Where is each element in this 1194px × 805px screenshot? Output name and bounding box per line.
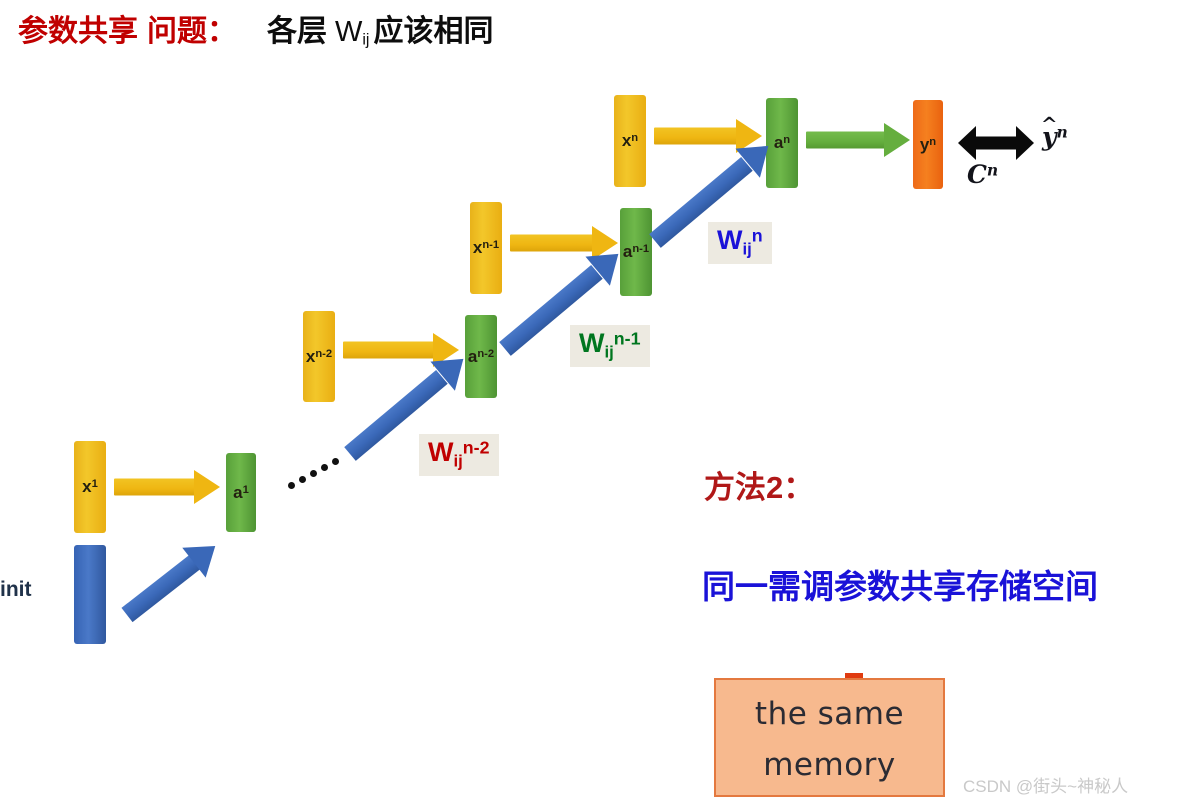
arrow-init-to-a1 <box>115 531 227 630</box>
page-title: 参数共享问题：各层Wij应该相同 <box>18 6 493 50</box>
title-black-suffix: 应该相同 <box>373 15 493 48</box>
bar-an2-label: an-2 <box>468 347 494 367</box>
memory-box-line-1: the same <box>716 696 943 732</box>
bar-xn2-label: xn-2 <box>306 347 332 367</box>
init-label: init <box>0 578 32 602</box>
bar-an1-label: an-1 <box>623 242 649 262</box>
weight-label-n-1: Wijn-1 <box>570 325 650 367</box>
memory-box: the same memory <box>714 678 945 797</box>
cost-label: Cn <box>967 160 998 189</box>
bar-an2: an-2 <box>465 315 497 398</box>
yhat-label: ^yn <box>1042 122 1068 151</box>
arrow-an-to-yn <box>806 123 910 157</box>
bar-a1-label: a1 <box>233 483 249 503</box>
title-red-question: 问题： <box>147 15 237 48</box>
ellipsis-dots-lower <box>288 455 358 491</box>
double-arrow-compare <box>958 125 1034 161</box>
hat-accent-icon: ^ <box>1041 112 1058 136</box>
bar-an-label: an <box>774 133 790 153</box>
title-black-prefix: 各层 <box>267 15 327 48</box>
method-description: 同一需调参数共享存储空间 <box>702 560 1098 608</box>
arrow-x1-to-a1 <box>114 470 220 504</box>
bar-an: an <box>766 98 798 188</box>
bar-a1: a1 <box>226 453 256 532</box>
bar-yn-label: yn <box>920 135 936 155</box>
bar-xn1: xn-1 <box>470 202 502 294</box>
weight-label-n: Wijn <box>708 222 772 264</box>
slide-canvas: 参数共享问题：各层Wij应该相同 x1 init a1 xn-2 an-2 Wi… <box>0 0 1194 805</box>
title-weight-symbol: Wij <box>335 16 369 48</box>
title-red-topic: 参数共享 <box>18 15 138 48</box>
weight-label-n-2: Wijn-2 <box>419 434 499 476</box>
bar-x1: x1 <box>74 441 106 533</box>
bar-init <box>74 545 106 644</box>
method-heading: 方法2： <box>704 462 814 507</box>
bar-x1-label: x1 <box>82 477 98 497</box>
csdn-watermark: CSDN @街头~神秘人 <box>963 772 1128 797</box>
bar-xn1-label: xn-1 <box>473 238 499 258</box>
bar-xn2: xn-2 <box>303 311 335 402</box>
bar-xn-label: xn <box>622 131 638 151</box>
bar-yn: yn <box>913 100 943 189</box>
memory-box-line-2: memory <box>716 747 943 783</box>
bar-xn: xn <box>614 95 646 187</box>
